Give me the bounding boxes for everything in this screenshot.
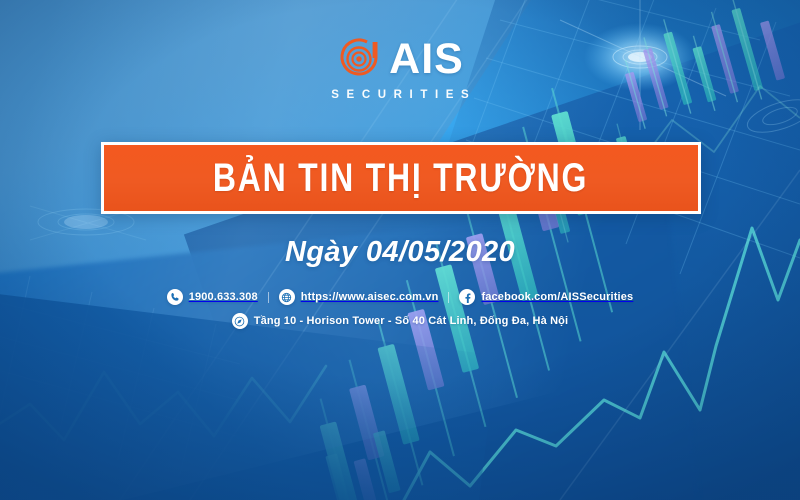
brand-logo: AIS SECURITIES xyxy=(0,36,800,101)
contact-address: Tầng 10 - Horison Tower - Số 40 Cát Linh… xyxy=(232,313,569,329)
contact-phone[interactable]: 1900.633.308 xyxy=(167,289,258,305)
market-newsletter-poster: AIS SECURITIES BẢN TIN THỊ TRƯỜNG Ngày 0… xyxy=(0,0,800,500)
brand-name: AIS xyxy=(389,38,464,81)
headline-banner: BẢN TIN THỊ TRƯỜNG xyxy=(101,142,701,214)
headline-title: BẢN TIN THỊ TRƯỜNG xyxy=(213,158,588,198)
contact-website[interactable]: https://www.aisec.com.vn xyxy=(279,289,439,305)
phone-icon xyxy=(167,289,183,305)
brand-logo-row: AIS xyxy=(336,36,464,82)
contact-separator-1 xyxy=(268,292,269,303)
contact-phone-text: 1900.633.308 xyxy=(189,291,258,303)
brand-tagline: SECURITIES xyxy=(324,89,477,101)
contact-address-text: Tầng 10 - Horison Tower - Số 40 Cát Linh… xyxy=(254,315,569,327)
contact-row-primary: 1900.633.308 https://www.aisec.com.vn xyxy=(167,289,634,305)
contact-block: 1900.633.308 https://www.aisec.com.vn xyxy=(0,289,800,329)
facebook-icon xyxy=(459,289,475,305)
compass-location-icon xyxy=(232,313,248,329)
globe-icon xyxy=(279,289,295,305)
issue-date: Ngày 04/05/2020 xyxy=(0,236,800,269)
ais-target-logo-icon xyxy=(336,36,382,82)
contact-facebook-text: facebook.com/AISSecurities xyxy=(481,291,633,303)
contact-facebook[interactable]: facebook.com/AISSecurities xyxy=(459,289,633,305)
contact-website-text: https://www.aisec.com.vn xyxy=(301,291,439,303)
contact-separator-2 xyxy=(448,292,449,303)
contact-row-address: Tầng 10 - Horison Tower - Số 40 Cát Linh… xyxy=(232,313,569,329)
